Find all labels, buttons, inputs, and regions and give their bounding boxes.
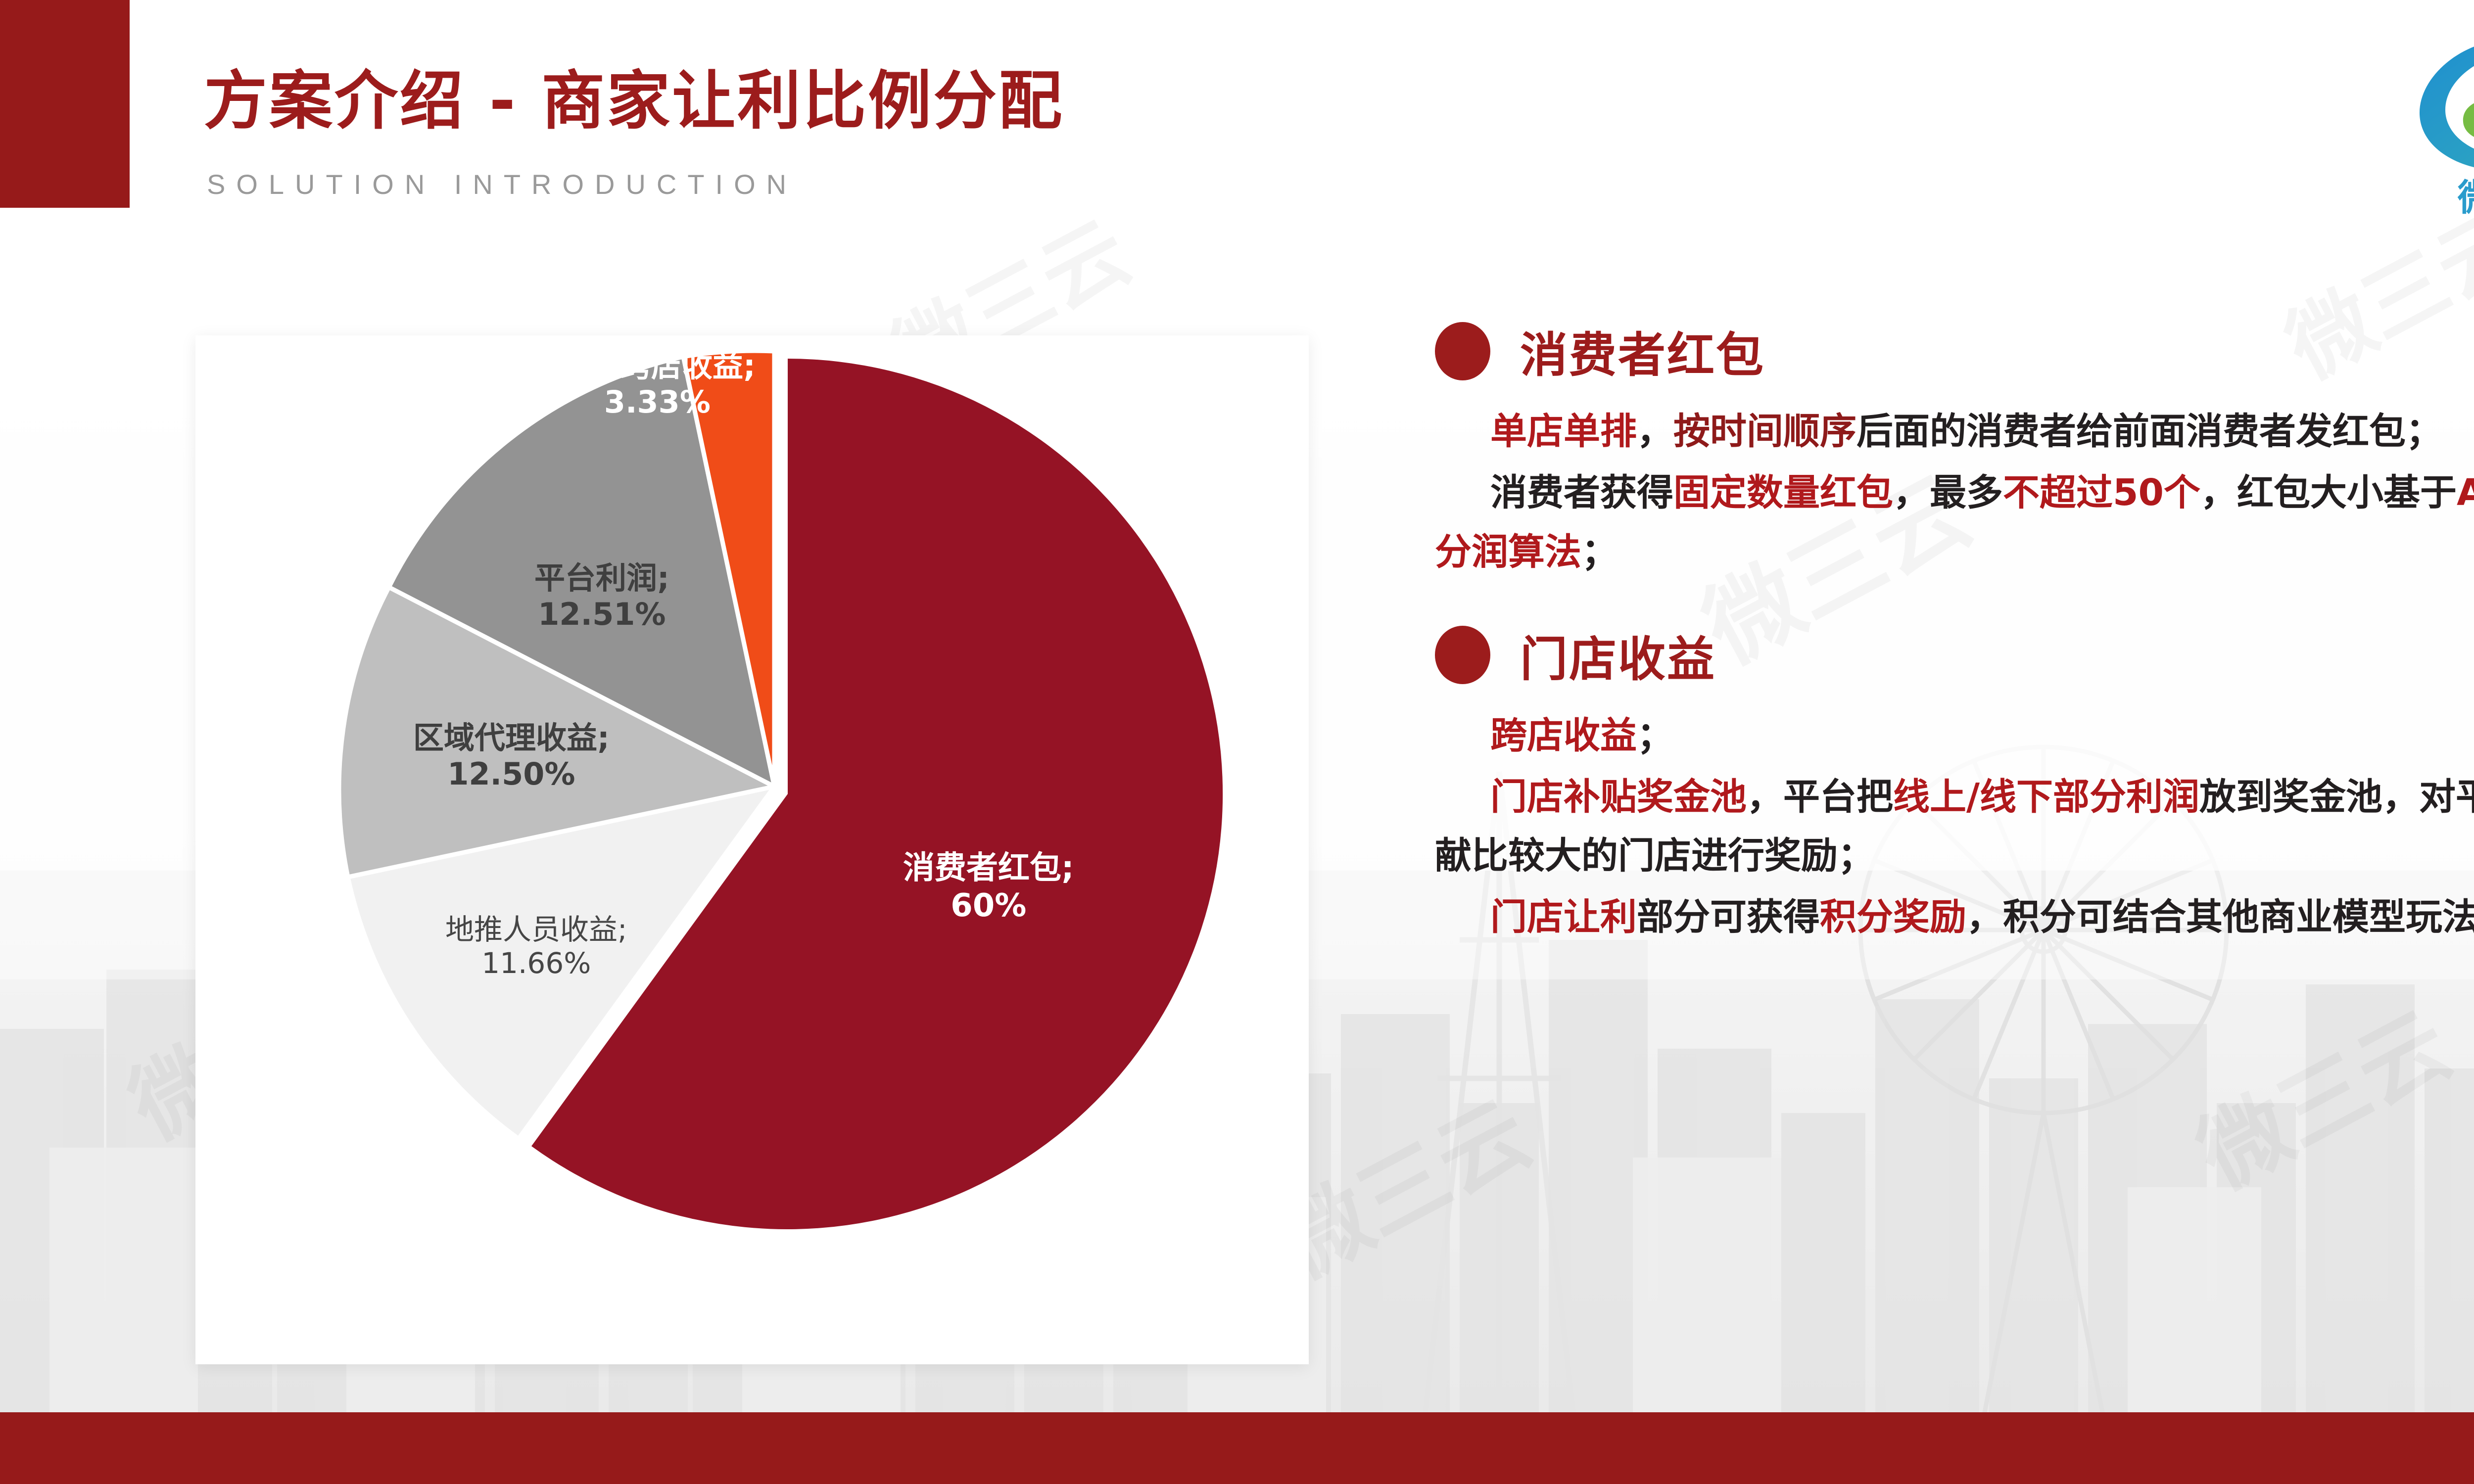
pie-chart xyxy=(195,277,1309,1365)
section-header-consumer-red-packet: 消费者红包 xyxy=(1435,317,2474,385)
highlight-text: 按时间顺序 xyxy=(1673,410,1856,453)
section-title: 门店收益 xyxy=(1520,621,1716,690)
paragraph: 单店单排，按时间顺序后面的消费者给前面消费者发红包； xyxy=(1435,402,2474,462)
section-body-store-income: 跨店收益； 门店补贴奖金池，平台把线上/线下部分利润放到奖金池，对平台贡献比较大… xyxy=(1435,706,2474,948)
section-header-store-income: 门店收益 xyxy=(1435,621,2474,690)
plain-text: 消费者获得 xyxy=(1490,471,1673,514)
brand-logo: R 微三云 xyxy=(2415,30,2474,228)
paragraph: 门店让利部分可获得积分奖励，积分可结合其他商业模型玩法； xyxy=(1435,888,2474,947)
highlight-text: 跨店收益 xyxy=(1490,714,1637,757)
page-title: 方案介绍 - 商家让利比例分配 xyxy=(204,49,1064,141)
plain-text: 部分可获得 xyxy=(1637,896,1820,938)
plain-text: ， xyxy=(1637,410,1673,453)
logo-mark-icon: R xyxy=(2415,30,2474,178)
section-title: 消费者红包 xyxy=(1520,317,1765,385)
header-accent-block xyxy=(0,0,130,208)
paragraph: 消费者获得固定数量红包，最多不超过50个，红包大小基于Ai动态分润算法； xyxy=(1435,464,2474,582)
highlight-text: 门店补贴奖金池 xyxy=(1490,776,1747,818)
plain-text: ，最多 xyxy=(1893,471,2003,514)
content-column: 消费者红包 单店单排，按时间顺序后面的消费者给前面消费者发红包； 消费者获得固定… xyxy=(1435,317,2474,949)
highlight-text: 线上/线下部分利润 xyxy=(1893,776,2199,818)
section-body-consumer-red-packet: 单店单排，按时间顺序后面的消费者给前面消费者发红包； 消费者获得固定数量红包，最… xyxy=(1435,402,2474,582)
plain-text: 后面的消费者给前面消费者发红包； xyxy=(1856,410,2442,453)
highlight-text: 不超过50个 xyxy=(2003,471,2200,514)
paragraph: 跨店收益； xyxy=(1435,706,2474,766)
highlight-text: 门店让利 xyxy=(1490,896,1637,938)
logo-brand-text: 微三云 xyxy=(2415,168,2474,221)
footer-bar xyxy=(0,1412,2474,1484)
page-subtitle: SOLUTION INTRODUCTION xyxy=(207,168,797,200)
plain-text: ，积分可结合其他商业模型玩法； xyxy=(1966,896,2474,938)
plain-text: ； xyxy=(1637,714,1673,757)
highlight-text: 积分奖励 xyxy=(1820,896,1966,938)
bullet-dot-icon xyxy=(1435,626,1490,684)
bullet-dot-icon xyxy=(1435,322,1490,380)
highlight-text: 固定数量红包 xyxy=(1673,471,1893,514)
plain-text: ； xyxy=(1581,531,1618,573)
plain-text: ，红包大小基于 xyxy=(2200,471,2457,514)
paragraph: 门店补贴奖金池，平台把线上/线下部分利润放到奖金池，对平台贡献比较大的门店进行奖… xyxy=(1435,768,2474,886)
highlight-text: 单店单排 xyxy=(1490,410,1637,453)
plain-text: ，平台把 xyxy=(1747,776,1893,818)
